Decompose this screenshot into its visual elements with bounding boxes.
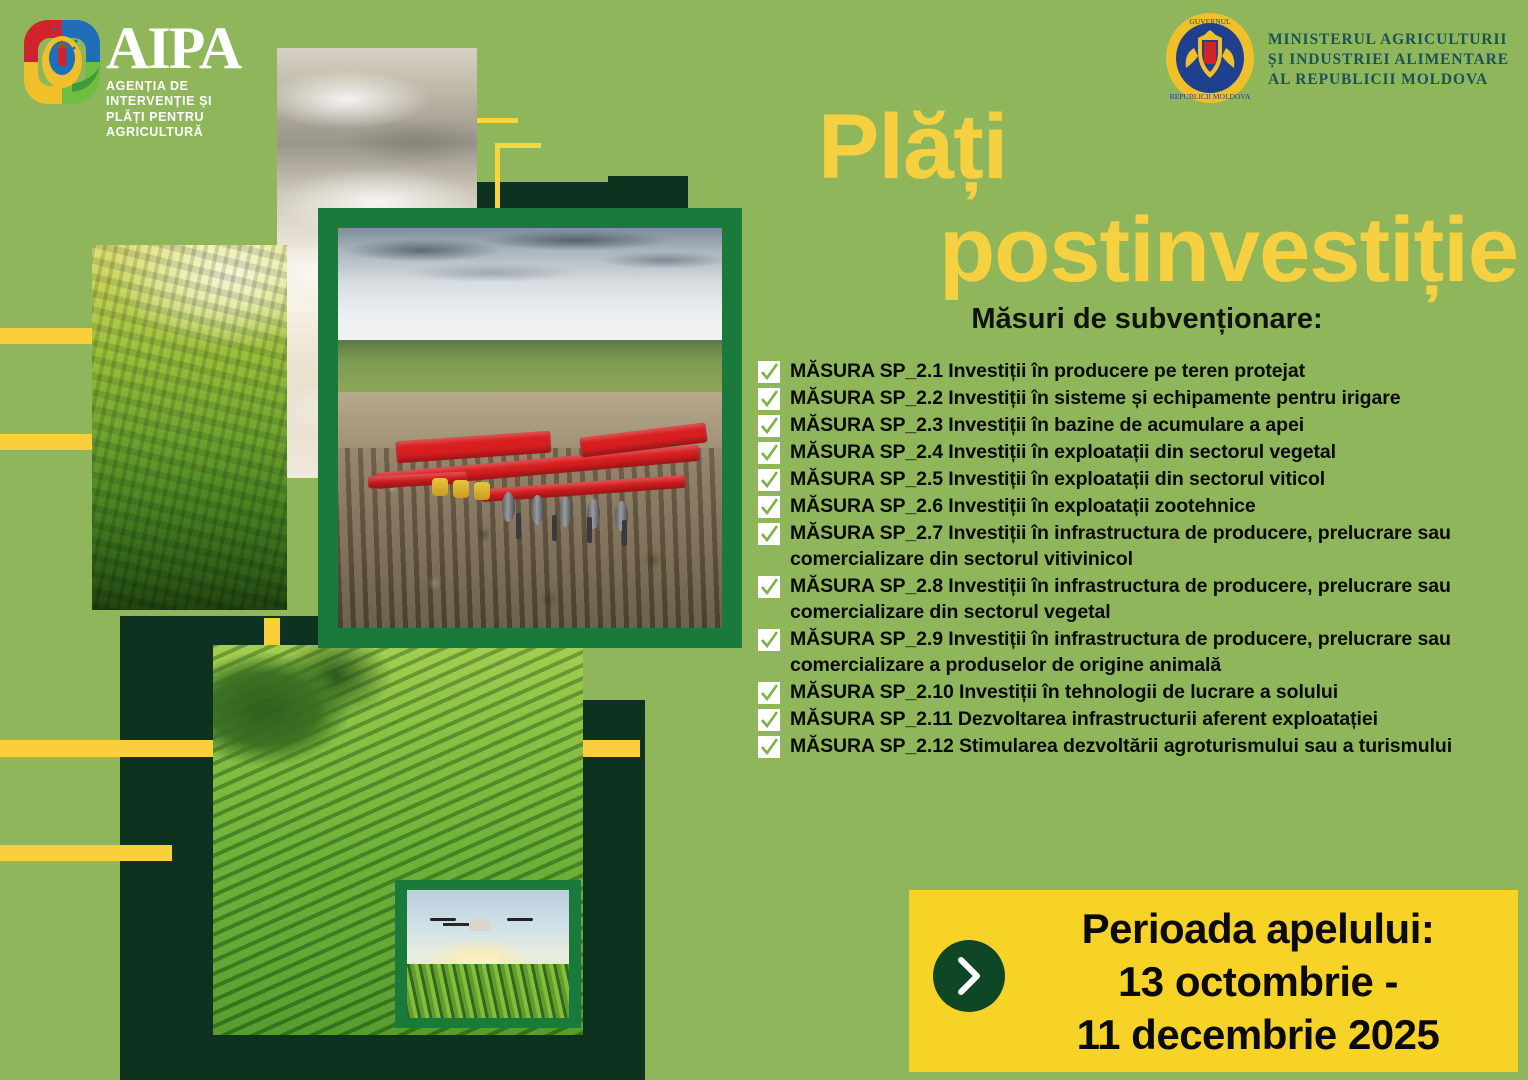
call-period-banner: Perioada apelului: 13 octombrie - 11 dec… (909, 890, 1518, 1072)
check-icon (758, 629, 780, 651)
red-harrow-implement (361, 428, 714, 532)
agricultural-spraying-drone-photo (407, 890, 569, 1018)
check-icon (758, 736, 780, 758)
drone-body (469, 918, 491, 931)
list-item: MĂSURA SP_2.5 Investiții în exploatații … (758, 466, 1526, 492)
check-icon (758, 709, 780, 731)
subheading: Măsuri de subvenționare: (766, 303, 1528, 336)
decor-yellow-bar-5 (0, 845, 172, 861)
aipa-logo: AIPA AGENȚIA DE INTERVENȚIE ȘI PLĂȚI PEN… (14, 12, 279, 112)
list-item: MĂSURA SP_2.11 Dezvoltarea infrastructur… (758, 706, 1526, 732)
measure-label: MĂSURA SP_2.2 Investiții în sisteme și e… (790, 385, 1400, 411)
list-item: MĂSURA SP_2.12 Stimularea dezvoltării ag… (758, 733, 1526, 759)
list-item: MĂSURA SP_2.4 Investiții în exploatații … (758, 439, 1526, 465)
check-icon (758, 576, 780, 598)
aipa-subtitle-line1: AGENȚIA DE INTERVENȚIE ȘI (106, 79, 279, 109)
check-icon (758, 388, 780, 410)
measure-label: MĂSURA SP_2.9 Investiții în infrastructu… (790, 626, 1526, 678)
ministry-wordmark: MINISTERUL AGRICULTURII ȘI INDUSTRIEI AL… (1268, 30, 1509, 90)
title-line-1: Plăți (818, 96, 1518, 199)
check-icon (758, 442, 780, 464)
call-period-text: Perioada apelului: 13 octombrie - 11 dec… (1013, 902, 1503, 1061)
aipa-emblem-icon (14, 14, 110, 110)
check-icon (758, 496, 780, 518)
drone-grass-field (407, 964, 569, 1018)
measure-label: MĂSURA SP_2.5 Investiții în exploatații … (790, 466, 1325, 492)
ministry-line-2: ȘI INDUSTRIEI ALIMENTARE (1268, 50, 1509, 70)
measure-label: MĂSURA SP_2.12 Stimularea dezvoltării ag… (790, 733, 1452, 759)
list-item: MĂSURA SP_2.8 Investiții în infrastructu… (758, 573, 1526, 625)
list-item: MĂSURA SP_2.1 Investiții în producere pe… (758, 358, 1526, 384)
aipa-wordmark: AIPA AGENȚIA DE INTERVENȚIE ȘI PLĂȚI PEN… (106, 18, 279, 140)
tilled-field-with-red-harrow-photo (338, 228, 722, 628)
call-period-line-2: 13 octombrie - (1013, 955, 1503, 1008)
sunlit-crop-field-photo (92, 245, 287, 610)
check-icon (758, 523, 780, 545)
page-title: Plăți postinvestiție (818, 96, 1518, 302)
measure-label: MĂSURA SP_2.6 Investiții în exploatații … (790, 493, 1256, 519)
list-item: MĂSURA SP_2.6 Investiții în exploatații … (758, 493, 1526, 519)
check-icon (758, 361, 780, 383)
title-line-2: postinvestiție (818, 199, 1518, 302)
measure-label: MĂSURA SP_2.3 Investiții în bazine de ac… (790, 412, 1304, 438)
ministry-line-1: MINISTERUL AGRICULTURII (1268, 30, 1509, 50)
ministry-line-3: AL REPUBLICII MOLDOVA (1268, 70, 1509, 90)
list-item: MĂSURA SP_2.9 Investiții în infrastructu… (758, 626, 1526, 678)
measure-label: MĂSURA SP_2.10 Investiții în tehnologii … (790, 679, 1338, 705)
measure-label: MĂSURA SP_2.4 Investiții în exploatații … (790, 439, 1336, 465)
check-icon (758, 415, 780, 437)
measure-label: MĂSURA SP_2.7 Investiții în infrastructu… (790, 520, 1526, 572)
measure-label: MĂSURA SP_2.1 Investiții în producere pe… (790, 358, 1305, 384)
field-sky (338, 228, 722, 352)
check-icon (758, 682, 780, 704)
check-icon (758, 469, 780, 491)
list-item: MĂSURA SP_2.3 Investiții în bazine de ac… (758, 412, 1526, 438)
measures-list: MĂSURA SP_2.1 Investiții în producere pe… (758, 358, 1526, 760)
aipa-name: AIPA (106, 18, 279, 78)
measure-label: MĂSURA SP_2.8 Investiții în infrastructu… (790, 573, 1526, 625)
poster-root: AIPA AGENȚIA DE INTERVENȚIE ȘI PLĂȚI PEN… (0, 0, 1528, 1080)
list-item: MĂSURA SP_2.7 Investiții în infrastructu… (758, 520, 1526, 572)
call-period-line-1: Perioada apelului: (1013, 902, 1503, 955)
moldova-state-seal-icon: GUVERNUL REPUBLICII MOLDOVA (1164, 12, 1256, 104)
list-item: MĂSURA SP_2.2 Investiții în sisteme și e… (758, 385, 1526, 411)
ministry-logo: GUVERNUL REPUBLICII MOLDOVA MINISTERUL A… (1164, 8, 1520, 108)
aipa-subtitle-line2: PLĂȚI PENTRU AGRICULTURĂ (106, 110, 279, 140)
svg-text:GUVERNUL: GUVERNUL (1189, 17, 1231, 26)
chevron-right-icon (933, 940, 1005, 1012)
field-far-hills (338, 340, 722, 396)
call-period-line-3: 11 decembrie 2025 (1013, 1008, 1503, 1061)
list-item: MĂSURA SP_2.10 Investiții în tehnologii … (758, 679, 1526, 705)
measure-label: MĂSURA SP_2.11 Dezvoltarea infrastructur… (790, 706, 1378, 732)
